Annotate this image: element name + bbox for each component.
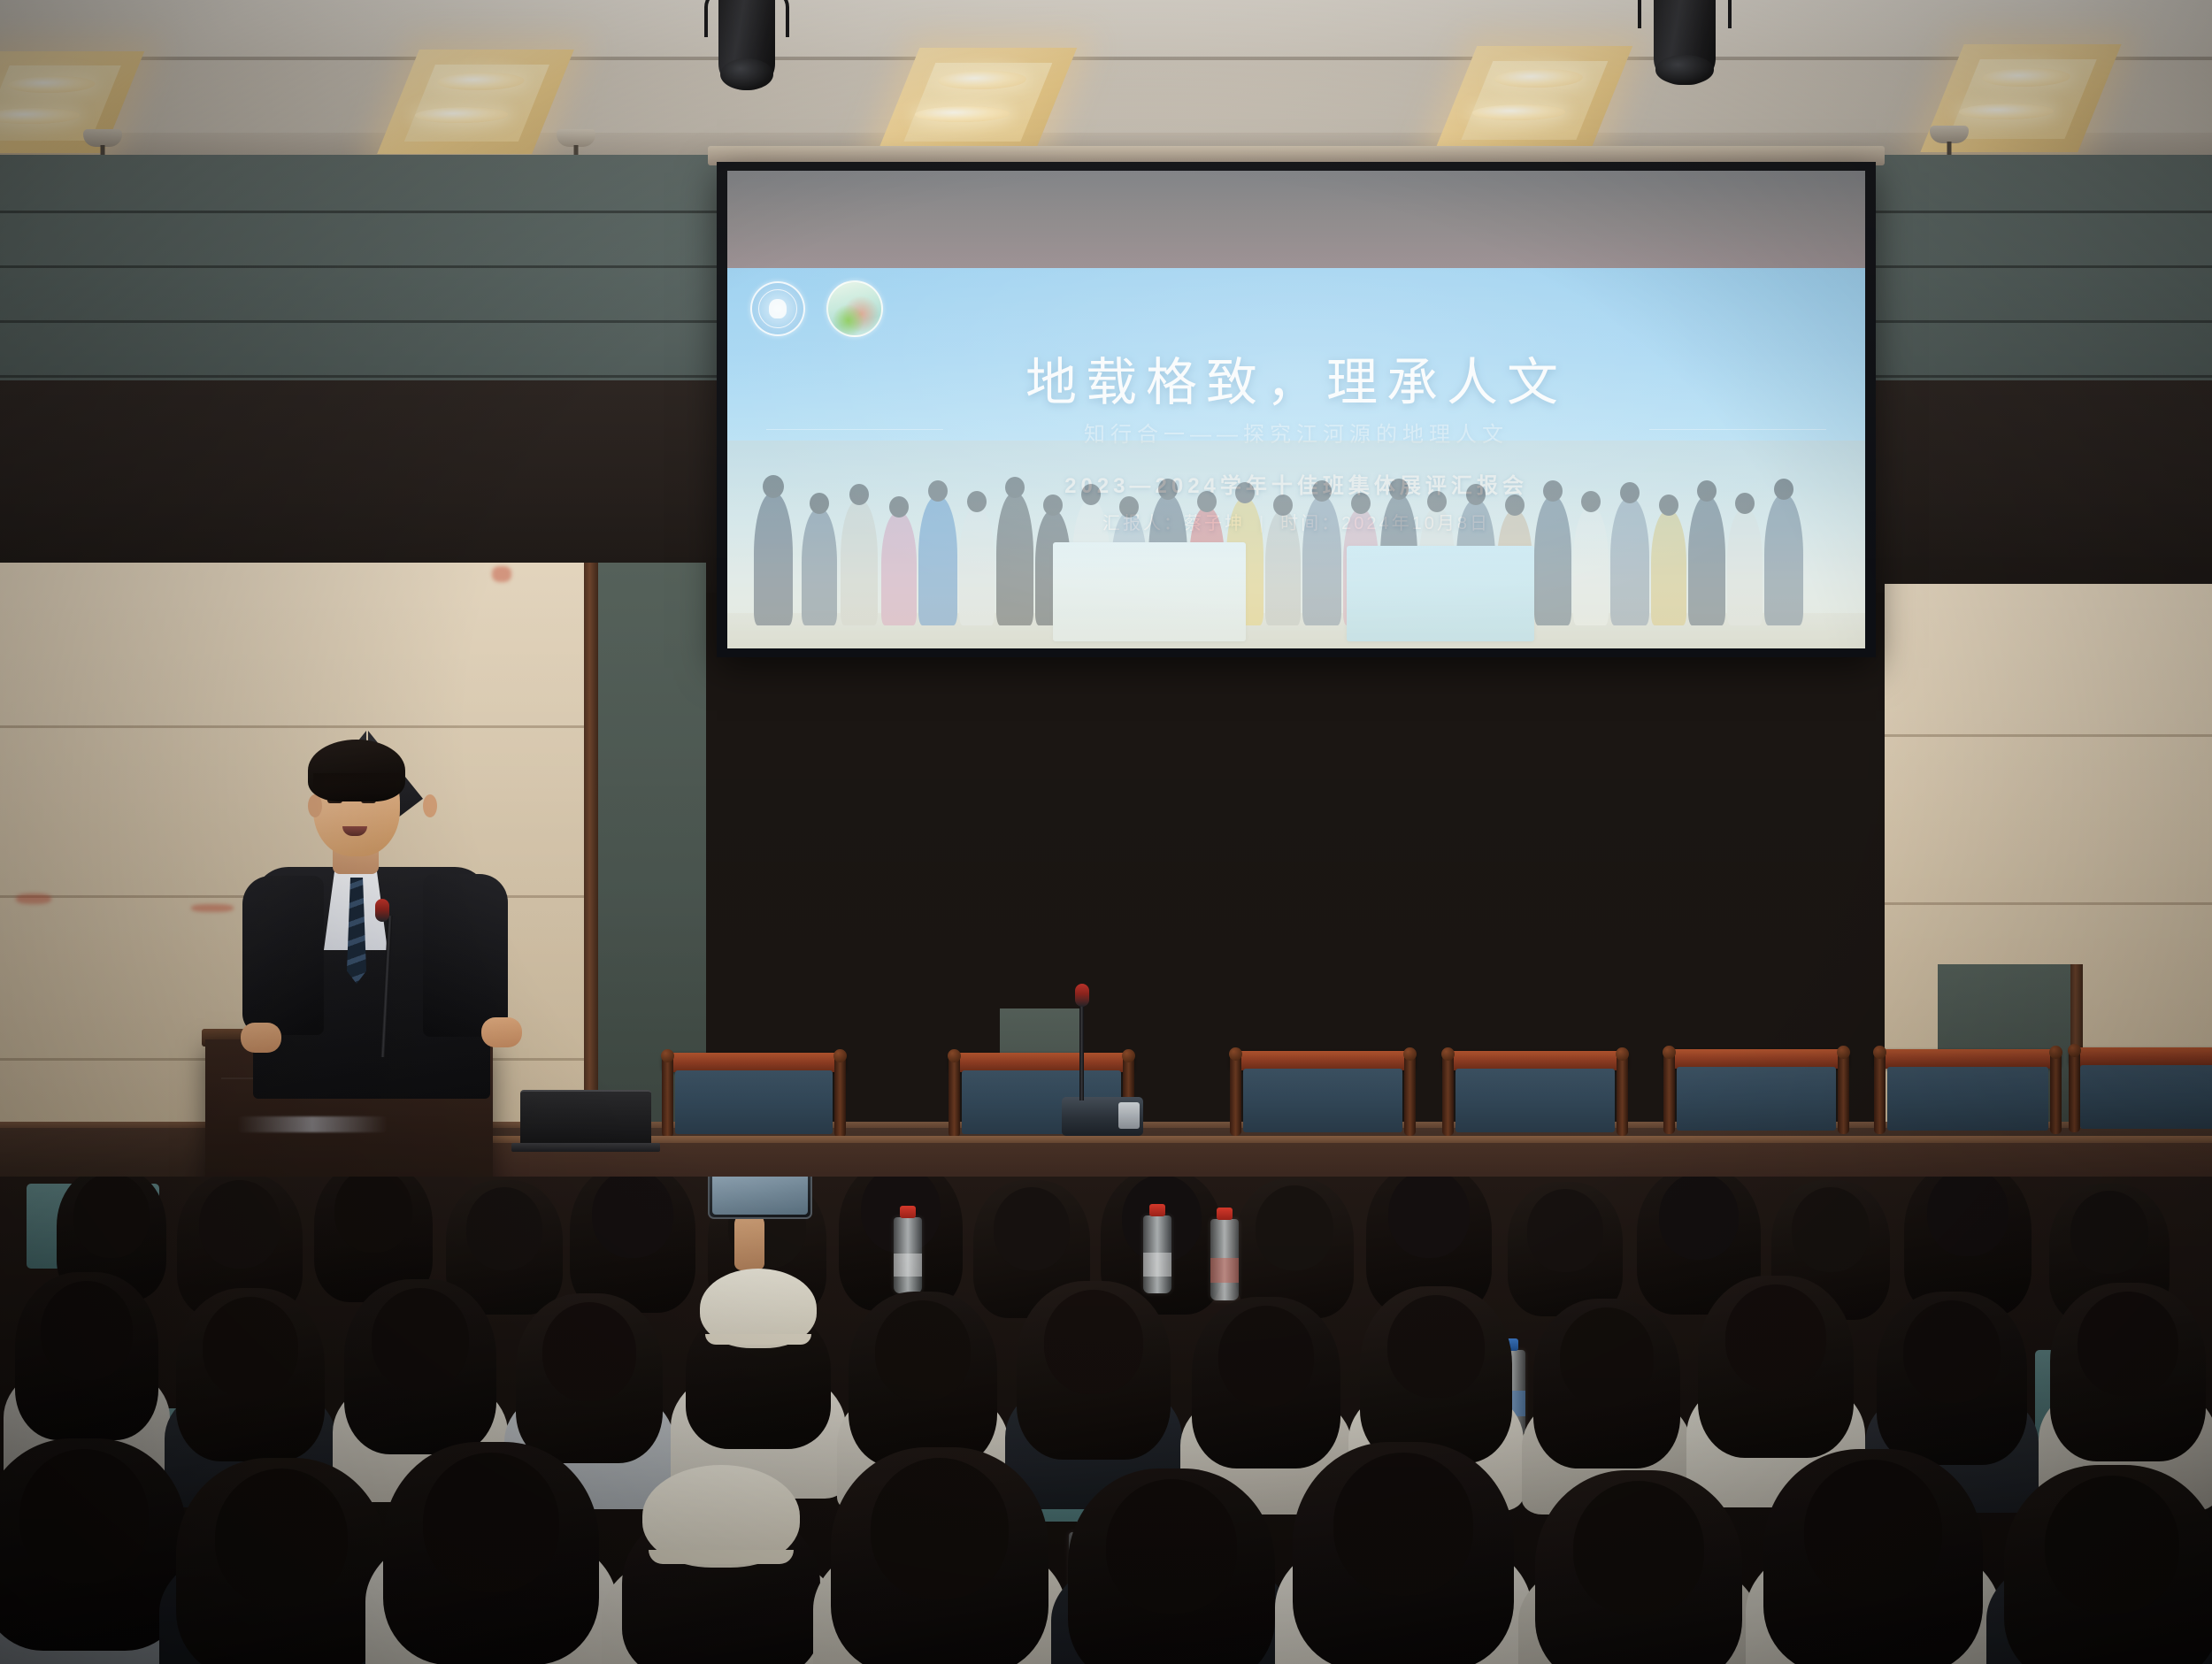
projection-screen: 地载格致，理承人文 知行合一——探究江河源的地理人文 2023—2024学年十佳… [717,162,1876,657]
university-seal-icon [750,281,805,336]
presenter-laptop [520,1090,651,1145]
wall-panel-seam [1885,902,2212,905]
audience-member [1755,1449,1991,1664]
stage-chair [1442,1051,1628,1138]
audience-member [1996,1465,2212,1664]
cap-brim [649,1550,794,1564]
wall-panel-seam [1885,734,2212,737]
audience-member [375,1442,607,1664]
stage-chair [2069,1047,2212,1134]
presenter-ear [423,794,437,817]
podium-microphone-head [375,899,389,922]
presenter-laptop-base [511,1143,660,1152]
slide-group-photo [727,441,1865,648]
slide-title: 地载格致，理承人文 [727,341,1865,415]
audience-member [1527,1470,1750,1664]
group-photo-banner [1347,546,1534,641]
audience-member-with-cap [611,1465,832,1664]
projector [1062,1097,1143,1136]
stage-chair [1230,1051,1416,1138]
presentation-slide: 地载格致，理承人文 知行合一——探究江河源的地理人文 2023—2024学年十佳… [727,268,1865,648]
presenter-right-hand [481,1017,522,1047]
slide-divider-left [766,429,943,430]
group-photo-banner [1053,542,1246,641]
stage-chair [1874,1049,2062,1136]
lecture-hall-photo: 地载格致，理承人文 知行合一——探究江河源的地理人文 2023—2024学年十佳… [0,0,2212,1664]
wall-scuff-mark [191,904,234,912]
audience-member [1060,1468,1283,1664]
wall-panel-green-left [595,563,706,1129]
water-bottle [1210,1219,1239,1300]
raised-hand [734,1212,764,1270]
black-stage-spotlight [699,0,796,108]
black-stage-spotlight [1632,0,1739,103]
slide-divider-right [1649,429,1826,430]
audience-member [823,1447,1056,1664]
ceiling-seam [0,57,2212,60]
audience-member-with-cap [676,1269,841,1499]
slide-logos [750,280,883,337]
ceiling-soffit [0,0,2212,58]
wall-scuff-mark [492,566,511,582]
presenter-necktie [347,878,366,984]
podium-reflection [237,1116,388,1132]
table-microphone-head [1075,984,1089,1007]
water-bottle [894,1217,922,1293]
wall-scuff-mark [16,893,51,904]
presenter-right-arm [423,874,508,1037]
audience-member [168,1458,395,1664]
presenter-left-hand [241,1023,281,1053]
audience-member [1285,1442,1522,1664]
table-microphone-stem [1079,996,1084,1100]
smartphone[interactable] [708,1177,812,1219]
presenter [248,725,495,1097]
stage-chair [662,1053,846,1139]
stage-chair [1663,1049,1849,1136]
audience [0,1177,2212,1664]
presenter-hair [308,740,405,801]
cap-brim [705,1334,811,1345]
wood-trim-post [584,563,598,1129]
presenter-left-arm [242,876,324,1035]
department-emblem-icon [826,280,883,337]
screen-inactive-area [727,171,1865,268]
